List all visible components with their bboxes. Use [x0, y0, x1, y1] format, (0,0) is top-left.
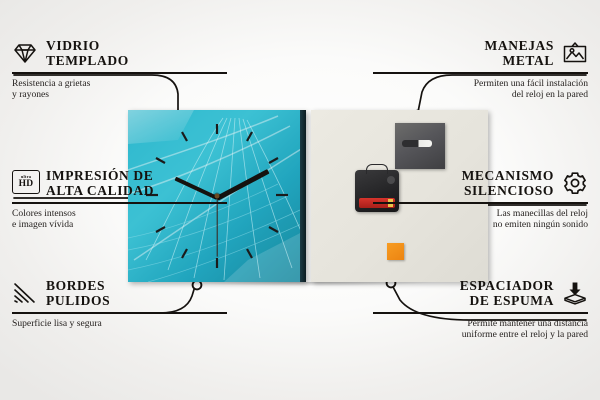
- diamond-icon: [12, 40, 38, 66]
- feature-description: Permite mantener una distanciauniforme e…: [373, 318, 588, 341]
- feature-title: MANEJASMETAL: [485, 38, 554, 68]
- foam-spacer: [387, 243, 404, 260]
- infographic-canvas: VIDRIOTEMPLADO Resistencia a grietasy ra…: [0, 0, 600, 400]
- feature-description: Superficie lisa y segura: [12, 318, 227, 330]
- metal-hanger: [395, 123, 445, 169]
- glass-edge: [300, 110, 306, 282]
- feature-description: Las manecillas del relojno emiten ningún…: [373, 208, 588, 231]
- polished-edges-icon: [12, 280, 38, 306]
- feature-title: MECANISMOSILENCIOSO: [462, 168, 554, 198]
- feature-title: BORDESPULIDOS: [46, 278, 110, 308]
- feature-vidrio-templado: VIDRIOTEMPLADO Resistencia a grietasy ra…: [12, 38, 227, 101]
- divider: [373, 72, 588, 74]
- feature-title: IMPRESIÓN DEALTA CALIDAD: [46, 168, 154, 198]
- feature-description: Permiten una fácil instalacióndel reloj …: [373, 78, 588, 101]
- foam-spacer-icon: [562, 280, 588, 306]
- picture-frame-icon: [562, 40, 588, 66]
- divider: [12, 202, 227, 204]
- hd-icon-big-label: HD: [19, 180, 34, 190]
- divider: [12, 312, 227, 314]
- gear-icon: [562, 170, 588, 196]
- feature-espaciador-espuma: ESPACIADORDE ESPUMA Permite mantener una…: [373, 278, 588, 341]
- divider: [373, 312, 588, 314]
- feature-title: VIDRIOTEMPLADO: [46, 38, 129, 68]
- feature-bordes-pulidos: BORDESPULIDOS Superficie lisa y segura: [12, 278, 227, 329]
- hanger-slot: [402, 140, 432, 147]
- divider: [12, 72, 227, 74]
- feature-mecanismo-silencioso: MECANISMOSILENCIOSO Las manecillas del r…: [373, 168, 588, 231]
- feature-description: Colores intensose imagen vívida: [12, 208, 227, 231]
- feature-impresion-alta-calidad: ultra HD IMPRESIÓN DEALTA CALIDAD Colore…: [12, 168, 227, 231]
- feature-title: ESPACIADORDE ESPUMA: [460, 278, 554, 308]
- feature-manejas-metal: MANEJASMETAL Permiten una fácil instalac…: [373, 38, 588, 101]
- ultra-hd-icon: ultra HD: [12, 170, 38, 196]
- feature-description: Resistencia a grietasy rayones: [12, 78, 227, 101]
- divider: [373, 202, 588, 204]
